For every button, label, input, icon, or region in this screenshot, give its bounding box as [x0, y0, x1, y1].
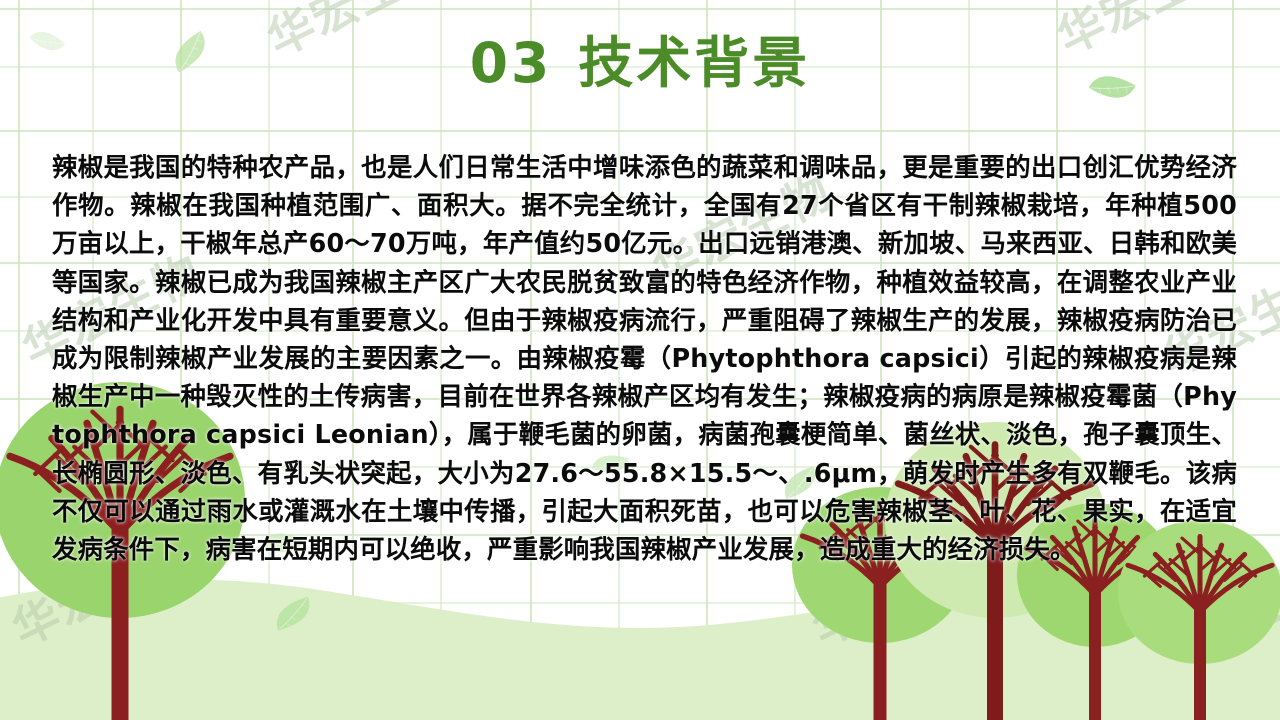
page-title: 03技术背景	[0, 18, 1280, 98]
section-number: 03	[470, 31, 553, 95]
section-title-text: 技术背景	[578, 31, 810, 95]
grid-line-horizontal	[0, 8, 1280, 10]
slide-canvas: 华宏生物华宏生物华宏生物华宏生物华宏生物华宏生物华宏生物华宏生物 03技术背景 …	[0, 0, 1280, 720]
grid-line-horizontal	[0, 130, 1280, 132]
body-paragraph: 辣椒是我国的特种农产品，也是人们日常生活中增味添色的蔬菜和调味品，更是重要的出口…	[52, 148, 1237, 568]
